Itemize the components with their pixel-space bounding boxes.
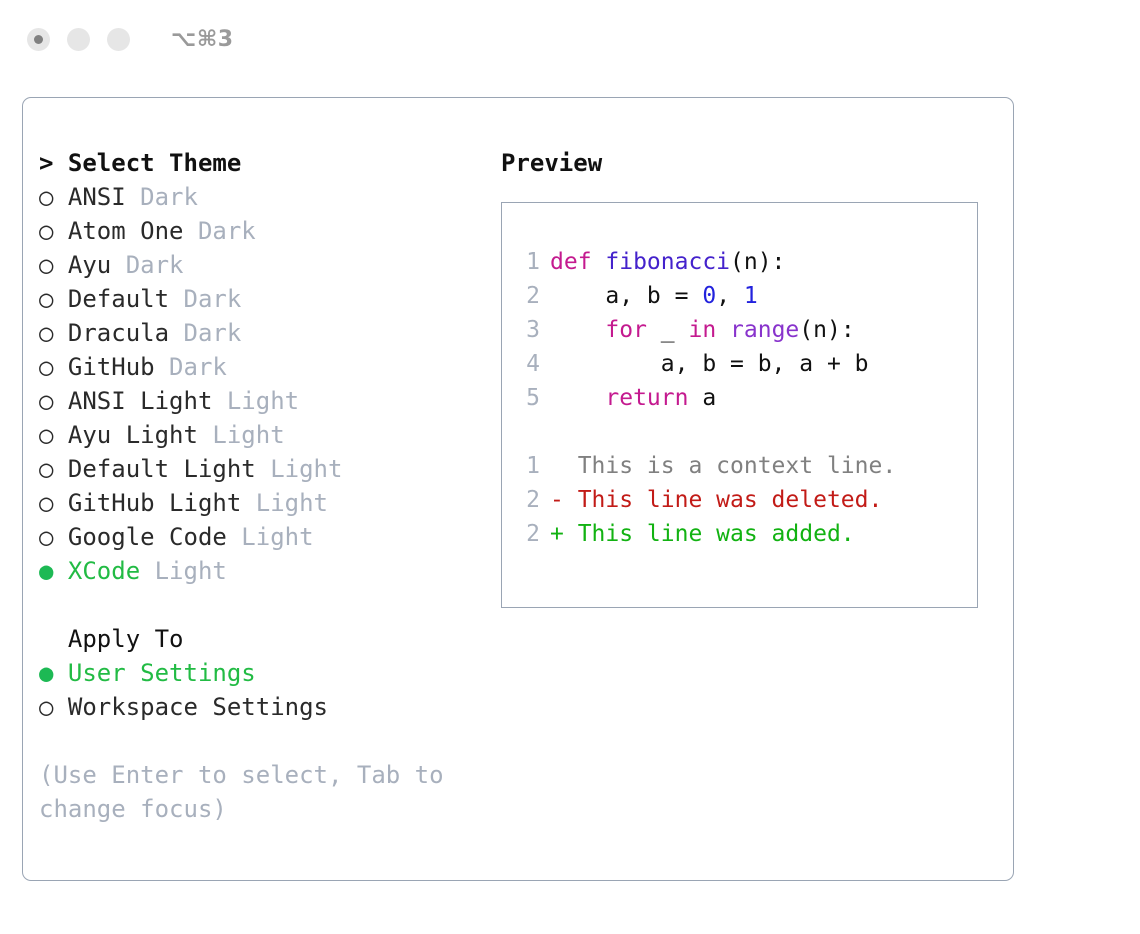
radio-unselected-icon: ○: [39, 489, 53, 517]
code-block: 1def fibonacci(n):2 a, b = 0, 13 for _ i…: [516, 245, 977, 415]
theme-option-google-code[interactable]: ○ Google Code Light: [39, 520, 501, 554]
theme-option-tag: Light: [212, 387, 299, 415]
theme-option-label: XCode: [53, 557, 140, 585]
preview-heading: Preview: [501, 146, 1013, 180]
theme-option-tag: Dark: [155, 353, 227, 381]
code-line-number: 3: [516, 313, 540, 347]
diff-line: 2+ This line was added.: [516, 517, 977, 551]
diff-line-text-del: - This line was deleted.: [550, 487, 882, 513]
radio-unselected-icon: ○: [39, 285, 53, 313]
theme-option-tag: Light: [256, 455, 343, 483]
code-line: 3 for _ in range(n):: [516, 313, 977, 347]
code-line: 4 a, b = b, a + b: [516, 347, 977, 381]
code-token-num: 0: [702, 283, 716, 309]
theme-option-label: Ayu Light: [53, 421, 198, 449]
theme-picker-dialog: > Select Theme ○ ANSI Dark○ Atom One Dar…: [22, 97, 1014, 881]
theme-option-label: ANSI: [53, 183, 125, 211]
theme-option-tag: Light: [241, 489, 328, 517]
theme-option-tag: Light: [198, 421, 285, 449]
apply-to-heading: Apply To: [39, 622, 501, 656]
theme-option-atom-one[interactable]: ○ Atom One Dark: [39, 214, 501, 248]
keyboard-shortcut-label: ⌥⌘3: [171, 27, 234, 52]
theme-option-tag: Dark: [184, 217, 256, 245]
theme-option-list: ○ ANSI Dark○ Atom One Dark○ Ayu Dark○ De…: [39, 180, 501, 588]
code-line-number: 1: [516, 245, 540, 279]
theme-option-label: GitHub: [53, 353, 154, 381]
theme-option-label: ANSI Light: [53, 387, 212, 415]
theme-option-tag: Dark: [169, 285, 241, 313]
radio-unselected-icon: ○: [39, 217, 53, 245]
code-token-plain: a, b =: [550, 283, 702, 309]
diff-line-text-ctx: This is a context line.: [550, 453, 896, 479]
select-theme-prefix: >: [39, 149, 53, 177]
theme-option-xcode[interactable]: ● XCode Light: [39, 554, 501, 588]
radio-unselected-icon: ○: [39, 353, 53, 381]
code-token-plain: a, b = b, a + b: [550, 351, 869, 377]
code-token-plain: ,: [716, 283, 744, 309]
radio-unselected-icon: ○: [39, 523, 53, 551]
theme-option-label: Google Code: [53, 523, 226, 551]
theme-option-tag: Dark: [111, 251, 183, 279]
select-theme-heading: > Select Theme: [39, 146, 501, 180]
code-preview-panel: 1def fibonacci(n):2 a, b = 0, 13 for _ i…: [501, 202, 978, 608]
theme-option-tag: Dark: [169, 319, 241, 347]
code-token-kw: for: [605, 317, 647, 343]
code-token-kw: in: [688, 317, 716, 343]
radio-selected-icon: ●: [39, 659, 53, 687]
select-theme-title: Select Theme: [68, 149, 241, 177]
diff-line-number: 1: [516, 449, 540, 483]
theme-option-label: GitHub Light: [53, 489, 241, 517]
diff-line-text-add: + This line was added.: [550, 521, 855, 547]
theme-option-github-light[interactable]: ○ GitHub Light Light: [39, 486, 501, 520]
title-bar: ⌥⌘3: [0, 0, 1140, 78]
code-token-call: range: [730, 317, 799, 343]
theme-option-label: Default: [53, 285, 169, 313]
theme-option-tag: Light: [140, 557, 227, 585]
code-token-plain: (n):: [730, 249, 785, 275]
code-line-number: 4: [516, 347, 540, 381]
diff-line: 1 This is a context line.: [516, 449, 977, 483]
apply-option-workspace-settings[interactable]: ○ Workspace Settings: [39, 690, 501, 724]
code-token-kw: return: [605, 385, 688, 411]
code-line-number: 2: [516, 279, 540, 313]
theme-list-pane: > Select Theme ○ ANSI Dark○ Atom One Dar…: [23, 98, 501, 880]
theme-option-label: Dracula: [53, 319, 169, 347]
apply-option-user-settings[interactable]: ● User Settings: [39, 656, 501, 690]
code-token-plain: _: [647, 317, 689, 343]
theme-option-ayu[interactable]: ○ Ayu Dark: [39, 248, 501, 282]
code-line: 1def fibonacci(n):: [516, 245, 977, 279]
code-line-number: 5: [516, 381, 540, 415]
list-spacer: [39, 588, 501, 622]
apply-option-label: Workspace Settings: [53, 693, 328, 721]
radio-unselected-icon: ○: [39, 693, 53, 721]
apply-option-label: User Settings: [53, 659, 255, 687]
code-diff-gap: [516, 415, 977, 449]
code-token-plain: a: [688, 385, 716, 411]
theme-option-ansi[interactable]: ○ ANSI Dark: [39, 180, 501, 214]
keyboard-hint-text: (Use Enter to select, Tab to change focu…: [39, 758, 459, 826]
code-token-kw: def: [550, 249, 605, 275]
code-token-plain: [716, 317, 730, 343]
window-dot-active-icon[interactable]: [27, 28, 50, 51]
code-token-plain: (n):: [799, 317, 854, 343]
code-line: 5 return a: [516, 381, 977, 415]
diff-line-number: 2: [516, 483, 540, 517]
apply-to-title: Apply To: [68, 625, 184, 653]
theme-option-tag: Light: [227, 523, 314, 551]
theme-option-default[interactable]: ○ Default Dark: [39, 282, 501, 316]
radio-selected-icon: ●: [39, 557, 53, 585]
theme-option-default-light[interactable]: ○ Default Light Light: [39, 452, 501, 486]
theme-option-ansi-light[interactable]: ○ ANSI Light Light: [39, 384, 501, 418]
code-token-num: 1: [744, 283, 758, 309]
diff-line: 2- This line was deleted.: [516, 483, 977, 517]
radio-unselected-icon: ○: [39, 421, 53, 449]
radio-unselected-icon: ○: [39, 251, 53, 279]
diff-block: 1 This is a context line.2- This line wa…: [516, 449, 977, 551]
code-token-plain: [550, 385, 605, 411]
window-dot-second-icon[interactable]: [67, 28, 90, 51]
theme-option-dracula[interactable]: ○ Dracula Dark: [39, 316, 501, 350]
apply-option-list: ● User Settings○ Workspace Settings: [39, 656, 501, 724]
radio-unselected-icon: ○: [39, 183, 53, 211]
window-dot-third-icon[interactable]: [107, 28, 130, 51]
theme-option-label: Default Light: [53, 455, 255, 483]
theme-option-tag: Dark: [126, 183, 198, 211]
code-token-plain: [550, 317, 605, 343]
code-line: 2 a, b = 0, 1: [516, 279, 977, 313]
window-dot-inner: [34, 35, 43, 44]
theme-option-label: Ayu: [53, 251, 111, 279]
code-token-fn: fibonacci: [605, 249, 730, 275]
radio-unselected-icon: ○: [39, 455, 53, 483]
theme-option-github[interactable]: ○ GitHub Dark: [39, 350, 501, 384]
theme-option-ayu-light[interactable]: ○ Ayu Light Light: [39, 418, 501, 452]
radio-unselected-icon: ○: [39, 387, 53, 415]
app-root: ⌥⌘3 > Select Theme ○ ANSI Dark○ Atom One…: [0, 0, 1140, 934]
diff-line-number: 2: [516, 517, 540, 551]
radio-unselected-icon: ○: [39, 319, 53, 347]
theme-option-label: Atom One: [53, 217, 183, 245]
preview-pane: Preview 1def fibonacci(n):2 a, b = 0, 13…: [501, 98, 1013, 880]
